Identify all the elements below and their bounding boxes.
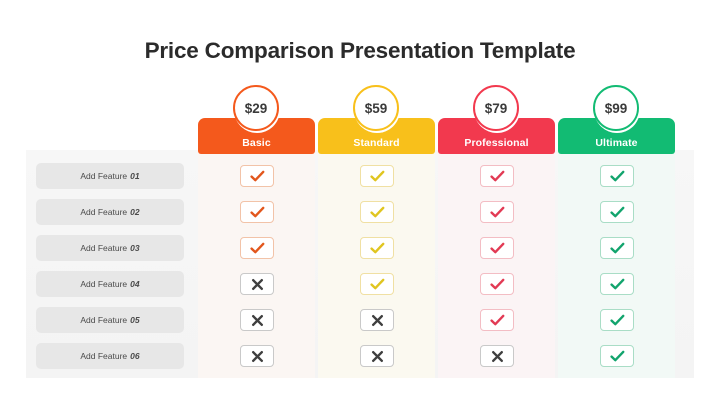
- feature-label-text: Add Feature: [80, 243, 127, 253]
- feature-label-text: Add Feature: [80, 171, 127, 181]
- check-icon-cell-r2-c3[interactable]: [480, 201, 514, 223]
- page-title: Price Comparison Presentation Template: [0, 38, 720, 64]
- slide-canvas: Price Comparison Presentation Template B…: [0, 0, 720, 404]
- check-icon-cell-r1-c3[interactable]: [480, 165, 514, 187]
- cross-icon-cell-r5-c2[interactable]: [360, 309, 394, 331]
- check-icon-cell-r3-c4[interactable]: [600, 237, 634, 259]
- check-icon-cell-r1-c4[interactable]: [600, 165, 634, 187]
- plan-name-basic: Basic: [198, 137, 315, 149]
- price-badge-basic: $29: [233, 85, 279, 131]
- check-icon-cell-r2-c2[interactable]: [360, 201, 394, 223]
- check-icon-cell-r4-c3[interactable]: [480, 273, 514, 295]
- cross-icon-cell-r6-c3[interactable]: [480, 345, 514, 367]
- check-icon-cell-r5-c4[interactable]: [600, 309, 634, 331]
- feature-label-text: Add Feature: [80, 207, 127, 217]
- feature-number: 06: [130, 351, 139, 361]
- check-icon-cell-r1-c2[interactable]: [360, 165, 394, 187]
- price-badge-ultimate: $99: [593, 85, 639, 131]
- feature-label-text: Add Feature: [80, 279, 127, 289]
- feature-label-text: Add Feature: [80, 351, 127, 361]
- feature-number: 02: [130, 207, 139, 217]
- plan-name-ultimate: Ultimate: [558, 137, 675, 149]
- check-icon-cell-r4-c4[interactable]: [600, 273, 634, 295]
- feature-label-06: Add Feature06: [36, 343, 184, 369]
- cross-icon-cell-r6-c2[interactable]: [360, 345, 394, 367]
- cross-icon-cell-r6-c1[interactable]: [240, 345, 274, 367]
- check-icon-cell-r5-c3[interactable]: [480, 309, 514, 331]
- check-icon-cell-r2-c1[interactable]: [240, 201, 274, 223]
- feature-label-01: Add Feature01: [36, 163, 184, 189]
- feature-number: 01: [130, 171, 139, 181]
- check-icon-cell-r1-c1[interactable]: [240, 165, 274, 187]
- check-icon-cell-r6-c4[interactable]: [600, 345, 634, 367]
- price-badge-standard: $59: [353, 85, 399, 131]
- feature-label-text: Add Feature: [80, 315, 127, 325]
- plan-name-professional: Professional: [438, 137, 555, 149]
- feature-label-02: Add Feature02: [36, 199, 184, 225]
- cross-icon-cell-r4-c1[interactable]: [240, 273, 274, 295]
- check-icon-cell-r3-c3[interactable]: [480, 237, 514, 259]
- check-icon-cell-r3-c2[interactable]: [360, 237, 394, 259]
- check-icon-cell-r2-c4[interactable]: [600, 201, 634, 223]
- feature-number: 05: [130, 315, 139, 325]
- check-icon-cell-r4-c2[interactable]: [360, 273, 394, 295]
- feature-number: 03: [130, 243, 139, 253]
- feature-label-03: Add Feature03: [36, 235, 184, 261]
- feature-number: 04: [130, 279, 139, 289]
- cross-icon-cell-r5-c1[interactable]: [240, 309, 274, 331]
- check-icon-cell-r3-c1[interactable]: [240, 237, 274, 259]
- plan-name-standard: Standard: [318, 137, 435, 149]
- feature-label-05: Add Feature05: [36, 307, 184, 333]
- price-badge-professional: $79: [473, 85, 519, 131]
- feature-label-04: Add Feature04: [36, 271, 184, 297]
